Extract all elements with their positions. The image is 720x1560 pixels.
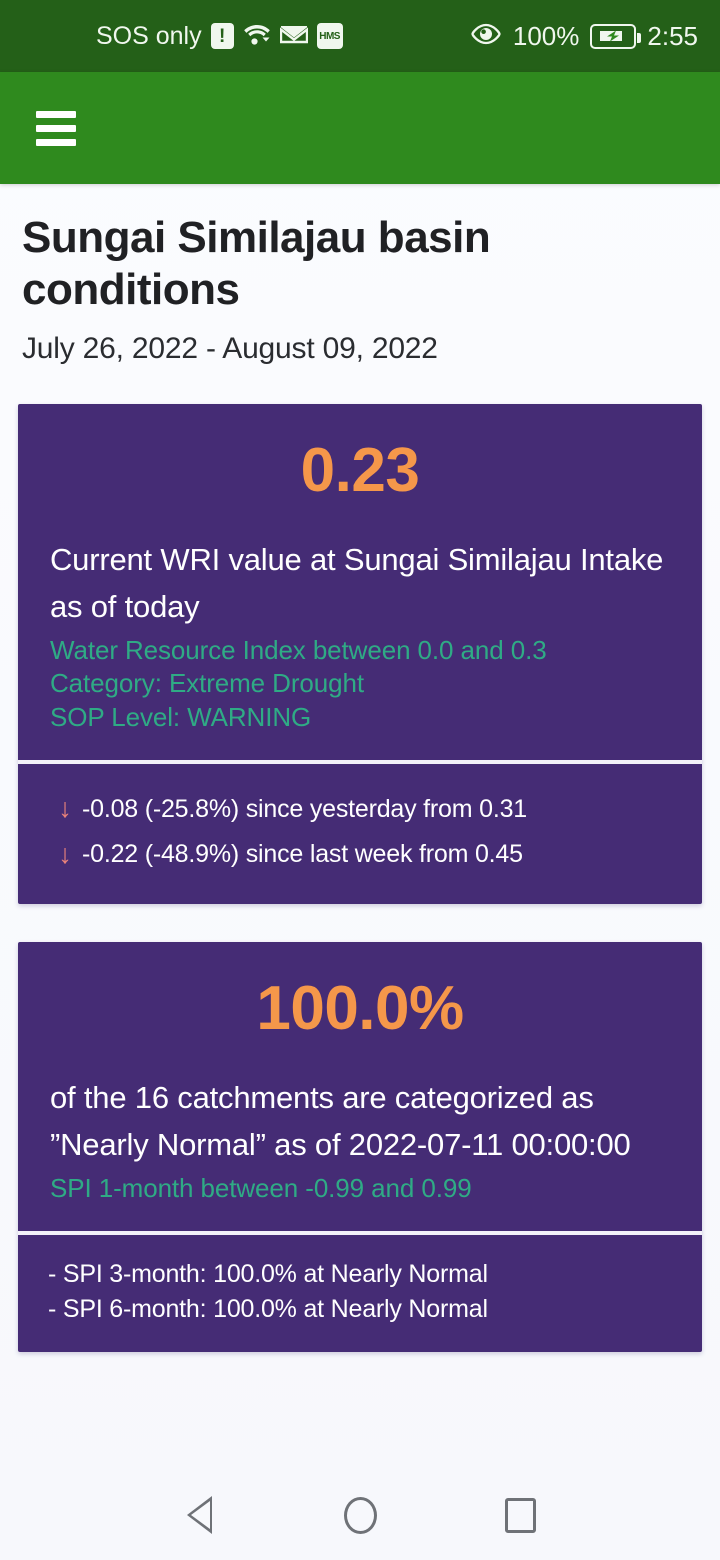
wri-value: 0.23: [50, 432, 670, 536]
eye-icon: [470, 23, 502, 50]
nav-recents-button[interactable]: [485, 1480, 555, 1550]
carrier-label: SOS only: [96, 22, 202, 51]
battery-charging-icon: [590, 24, 636, 49]
nav-home-button[interactable]: [325, 1480, 395, 1550]
hamburger-bar-1: [36, 111, 76, 118]
spi-note-range: SPI 1-month between -0.99 and 0.99: [50, 1172, 670, 1205]
spi-card-body: 100.0% of the 16 catchments are categori…: [18, 942, 702, 1231]
status-bar-right: 100% 2:55: [470, 21, 698, 52]
recents-square-icon: [505, 1498, 536, 1533]
wri-card-body: 0.23 Current WRI value at Sungai Similaj…: [18, 404, 702, 760]
status-bar-left: SOS only ! HMS: [14, 21, 343, 52]
hamburger-bar-3: [36, 139, 76, 146]
wri-trend-yesterday-text: -0.08 (-25.8%) since yesterday from 0.31: [82, 788, 527, 831]
hms-icon: HMS: [317, 23, 343, 49]
main-content: Sungai Similajau basin conditions July 2…: [0, 184, 720, 1470]
nav-back-button[interactable]: [165, 1480, 235, 1550]
home-circle-icon: [344, 1497, 377, 1534]
wri-note-sop-level: SOP Level: WARNING: [50, 701, 670, 734]
phone-screen: SOS only ! HMS: [0, 0, 720, 1560]
wri-headline: Current WRI value at Sungai Similajau In…: [50, 536, 670, 630]
android-nav-bar: [0, 1470, 720, 1560]
spi-value: 100.0%: [50, 970, 670, 1074]
alert-icon: !: [211, 23, 234, 49]
clock-label: 2:55: [647, 21, 698, 52]
spi-card-footer: - SPI 3-month: 100.0% at Nearly Normal -…: [18, 1235, 702, 1352]
wri-card: 0.23 Current WRI value at Sungai Similaj…: [18, 404, 702, 904]
spi-6-month-line: - SPI 6-month: 100.0% at Nearly Normal: [48, 1292, 672, 1327]
wri-note-category: Category: Extreme Drought: [50, 667, 670, 700]
mail-icon: [280, 23, 308, 50]
spi-3-month-line: - SPI 3-month: 100.0% at Nearly Normal: [48, 1257, 672, 1292]
back-triangle-icon: [187, 1496, 213, 1534]
status-bar: SOS only ! HMS: [0, 0, 720, 72]
arrow-down-icon: ↓: [48, 786, 82, 832]
spi-headline: of the 16 catchments are categorized as …: [50, 1074, 670, 1168]
arrow-down-icon: ↓: [48, 832, 82, 878]
hamburger-bar-2: [36, 125, 76, 132]
app-bar: [0, 72, 720, 184]
wifi-icon: [243, 21, 271, 52]
battery-percent-label: 100%: [513, 21, 580, 52]
wri-trend-last-week-text: -0.22 (-48.9%) since last week from 0.45: [82, 833, 523, 876]
date-range-label: July 26, 2022 - August 09, 2022: [18, 316, 702, 366]
page-title: Sungai Similajau basin conditions: [18, 184, 578, 316]
wri-trend-yesterday: ↓ -0.08 (-25.8%) since yesterday from 0.…: [48, 786, 672, 832]
wri-card-footer: ↓ -0.08 (-25.8%) since yesterday from 0.…: [18, 764, 702, 904]
wri-note-range: Water Resource Index between 0.0 and 0.3: [50, 634, 670, 667]
spi-card: 100.0% of the 16 catchments are categori…: [18, 942, 702, 1352]
spi-notes: SPI 1-month between -0.99 and 0.99: [50, 1172, 670, 1205]
wri-notes: Water Resource Index between 0.0 and 0.3…: [50, 634, 670, 734]
wri-trend-last-week: ↓ -0.22 (-48.9%) since last week from 0.…: [48, 832, 672, 878]
hamburger-menu-icon[interactable]: [36, 111, 76, 146]
